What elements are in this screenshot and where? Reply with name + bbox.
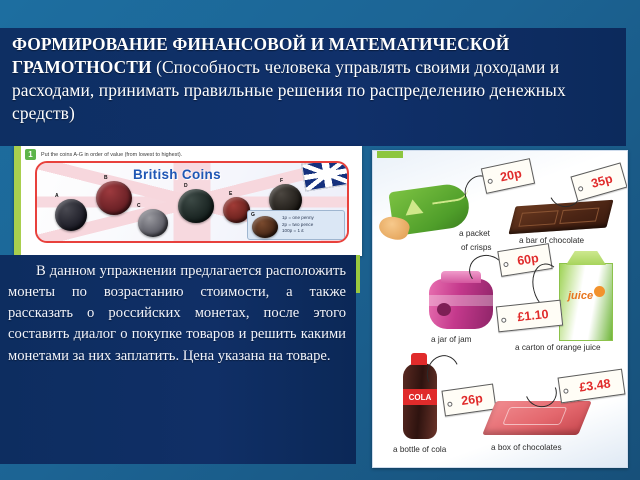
caption-box-of-chocolates: a box of chocolates [491, 443, 562, 452]
page-title: ФОРМИРОВАНИЕ ФИНАНСОВОЙ И МАТЕМАТИЧЕСКОЙ… [12, 33, 616, 125]
price-tag-chocolate-bar: 35p [570, 162, 627, 201]
price-tag-box-of-chocolates: £3.48 [558, 369, 626, 404]
british-coins-worksheet-image: 1 Put the coins A-G in order of value (f… [14, 146, 362, 256]
description-text: В данном упражнении предлагается располо… [8, 261, 346, 367]
coin-d [178, 189, 214, 223]
coin-g [252, 216, 278, 238]
exercise-number-badge: 1 [25, 149, 36, 160]
legend-line-3: 100p = 1 £ [282, 228, 314, 235]
cola-band-label: COLA [403, 389, 437, 405]
coin-a [55, 199, 87, 231]
caption-cola: a bottle of cola [393, 445, 446, 454]
worksheet-frame: British Coins A B C D E F G [35, 161, 349, 243]
price-tag-orange-juice: £1.10 [496, 300, 563, 333]
caption-orange-juice: a carton of orange juice [515, 343, 601, 352]
coin-label-g: G [251, 212, 255, 218]
worksheet-instruction: Put the coins A-G in order of value (fro… [41, 152, 182, 158]
slide-root: ФОРМИРОВАНИЕ ФИНАНСОВОЙ И МАТЕМАТИЧЕСКОЙ… [0, 0, 640, 480]
coin-label-d: D [184, 183, 188, 189]
coin-e [223, 197, 250, 223]
price-tag-cola: 26p [441, 384, 496, 417]
legend-line-2: 2p = two pence [282, 222, 314, 229]
price-tag-crisps: 20p [481, 158, 535, 194]
description-text-box: В данном упражнении предлагается располо… [0, 255, 356, 464]
image-green-tab [377, 151, 403, 158]
coin-label-c: C [137, 203, 141, 209]
coin-label-e: E [229, 191, 232, 197]
juice-carton-icon: juice [559, 263, 613, 341]
coin-c [138, 209, 168, 237]
coin-b [96, 181, 132, 215]
legend-line-1: 1p = one penny [282, 215, 314, 222]
worksheet-heading: British Coins [133, 167, 221, 182]
slide-title-box: ФОРМИРОВАНИЕ ФИНАНСОВОЙ И МАТЕМАТИЧЕСКОЙ… [0, 28, 626, 146]
green-accent-edge [356, 255, 360, 293]
caption-crisps-line2: of crisps [461, 243, 491, 252]
coin-label-b: B [104, 175, 108, 181]
caption-chocolate-bar: a bar of chocolate [519, 236, 584, 245]
coin-label-f: F [280, 178, 283, 184]
caption-jam: a jar of jam [431, 335, 472, 344]
coin-label-a: A [55, 193, 59, 199]
coin-value-legend: G 1p = one penny 2p = two pence 100p = 1… [247, 210, 345, 240]
cola-bottle-cap-icon [411, 353, 427, 365]
worksheet-header: 1 Put the coins A-G in order of value (f… [25, 149, 182, 160]
caption-crisps-line1: a packet [459, 229, 490, 238]
shopping-items-price-image: 20p a packet of crisps 35p a bar of choc… [372, 150, 628, 468]
legend-lines: 1p = one penny 2p = two pence 100p = 1 £ [282, 215, 314, 236]
